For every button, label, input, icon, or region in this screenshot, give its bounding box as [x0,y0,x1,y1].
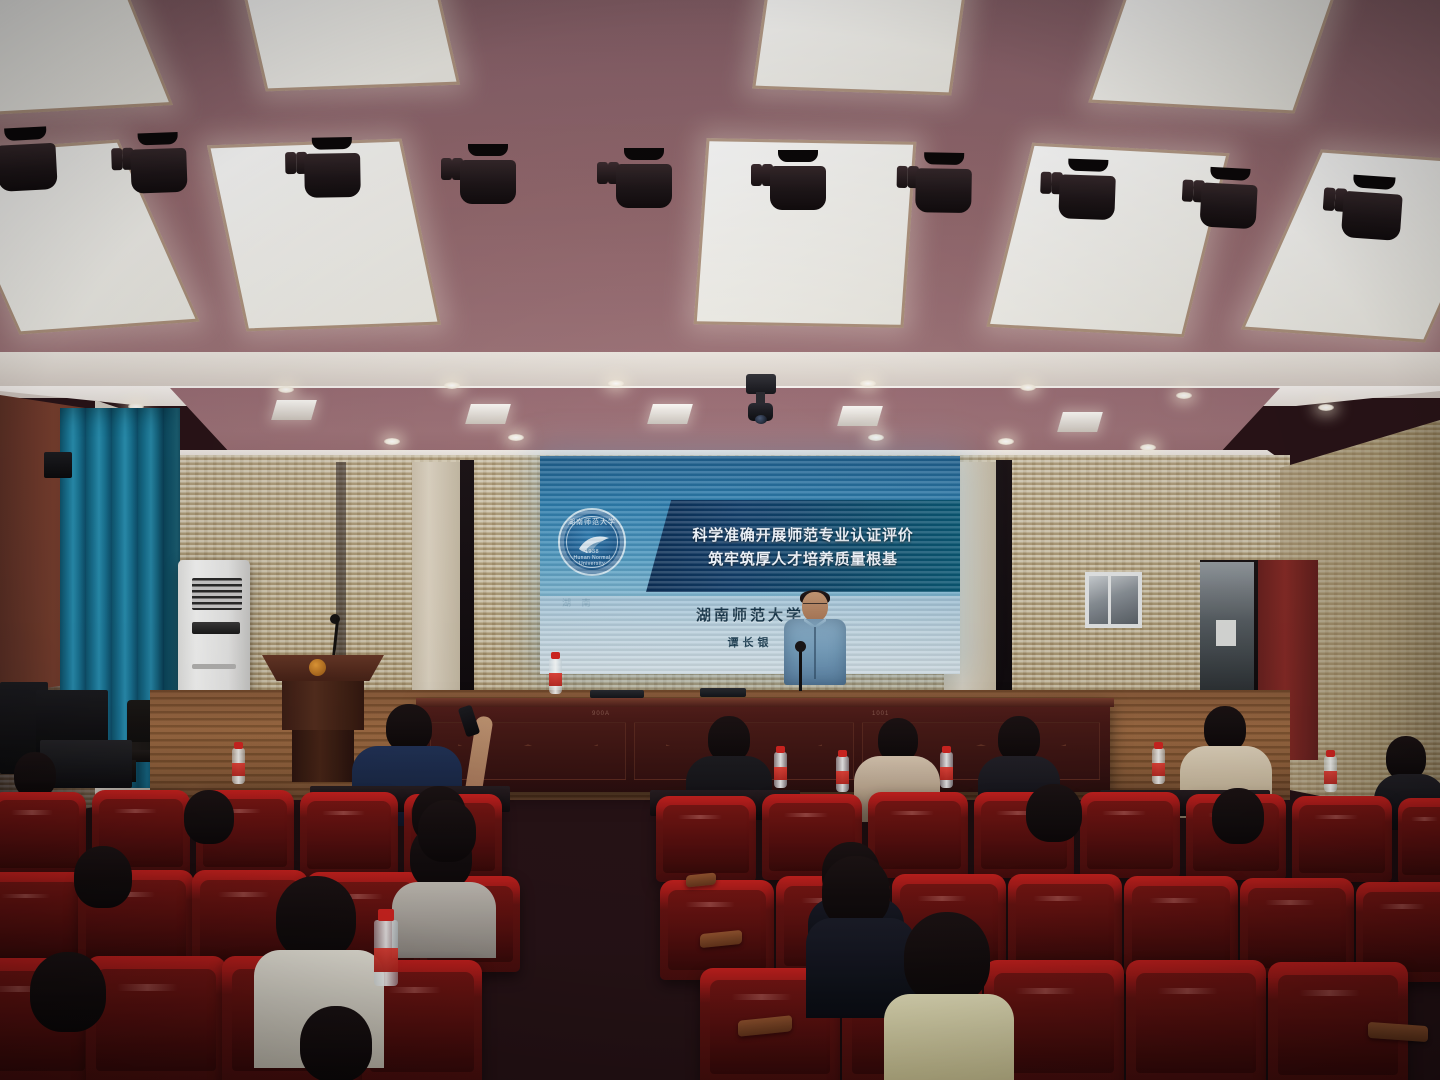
head-table-top [416,698,1114,707]
recessed-downlight [608,380,624,387]
water-bottle[interactable] [549,658,562,694]
bottle-cap [1326,750,1335,757]
auditorium-seat[interactable] [656,796,756,882]
attendee-head [1212,788,1264,844]
slide-speaker-name: 谭长银 [540,634,960,650]
slide-title-line-2: 筑牢筑厚人才培养质量根基 [708,548,898,569]
ac-display-panel[interactable] [192,622,240,634]
glasses-icon [803,603,827,609]
bottle-label [1324,771,1337,784]
slide-title-band: 科学准确开展师范专业认证评价 筑牢筑厚人才培养质量根基 [646,500,960,592]
ac-vent-slot [192,664,236,669]
recessed-downlight [1176,392,1192,399]
window-mullion [1108,576,1111,624]
presenter [780,592,850,692]
recessed-downlight [384,438,400,445]
pillar-recess-left [460,460,474,694]
recessed-downlight [508,434,524,441]
auditorium-seat[interactable] [1398,798,1440,884]
bottle-label [232,763,245,776]
water-bottle[interactable] [836,756,849,792]
logo-chinese-text: 湖南师范大学 [560,517,624,527]
recessed-downlight [1318,404,1334,411]
bottle-label [774,767,787,780]
camera-lens-icon [755,415,767,424]
recessed-downlight [444,382,460,389]
attendee [404,800,500,920]
door-notice-paper [1216,620,1236,646]
ceiling-light-panel [752,0,968,95]
bottle-label [549,673,562,686]
stage-pillar-left [412,462,460,694]
attendee [284,1006,404,1080]
water-bottle[interactable] [374,920,398,986]
recessed-downlight [860,380,876,387]
ceiling-camera-mount [746,374,776,394]
laptop[interactable] [700,688,746,697]
attendee-shoulders [884,994,1014,1080]
attendee-head [386,704,432,752]
soffit-square-light [465,404,511,424]
bottle-label [374,948,398,972]
podium-emblem-icon [309,659,326,676]
soffit-square-light [271,400,317,420]
wall-window [1085,572,1142,628]
laptop[interactable] [590,690,644,698]
attendee-head [184,790,234,844]
wall-control-panel[interactable] [44,452,72,478]
auditorium-seat[interactable] [300,792,398,878]
presenter-microphone-head [795,641,806,652]
bottle-cap [942,746,951,753]
recessed-downlight [868,434,884,441]
auditorium-seat[interactable] [1292,796,1392,882]
bottle-label [940,767,953,780]
water-bottle[interactable] [1152,748,1165,784]
water-bottle[interactable] [940,752,953,788]
bottle-cap [234,742,243,749]
attendee [1010,784,1098,862]
slide-institution: 湖南师范大学 [540,604,960,625]
attendee [60,846,156,942]
recessed-downlight [1140,444,1156,451]
water-bottle[interactable] [232,748,245,784]
university-logo: 湖南师范大学 1938 Hunan Normal University [558,508,626,576]
recessed-downlight [998,438,1014,445]
bottle-cap [776,746,785,753]
recessed-downlight [1020,384,1036,391]
pillar-recess-right [996,460,1012,694]
presentation-screen[interactable]: 湖南师范大学 1938 Hunan Normal University 科学准确… [540,456,960,674]
auditorium-seat[interactable] [660,880,774,980]
bottle-cap [1154,742,1163,749]
water-bottle[interactable] [1324,756,1337,792]
soffit-square-light [1057,412,1103,432]
attendee [168,790,250,860]
attendee [884,912,1014,1080]
attendee-head [904,912,990,1004]
soffit-square-light [837,406,883,426]
attendee-head [300,1006,372,1080]
bottle-cap [551,652,560,659]
auditorium-seat[interactable] [1008,874,1122,974]
attendee [1196,788,1280,862]
recessed-downlight [278,386,294,393]
ac-grille-icon [192,578,242,610]
attendee [12,952,132,1080]
auditorium-seat[interactable] [1268,962,1408,1080]
soffit-square-light [647,404,693,424]
presenter-shirt-placket [814,627,816,679]
inner-ceiling [170,388,1280,460]
attendee-head [30,952,106,1032]
slide-title-line-1: 科学准确开展师范专业认证评价 [692,524,913,545]
bottle-label [1152,763,1165,776]
attendee-head [74,846,132,908]
bottle-cap [378,909,394,921]
table-label-right: 1001 [872,711,889,717]
bottle-label [836,771,849,784]
table-label-left: 900A [592,711,610,717]
water-bottle[interactable] [774,752,787,788]
attendee-head [276,876,356,960]
lecture-hall-photo: 湖南师范大学 1938 Hunan Normal University 科学准确… [0,0,1440,1080]
bottle-cap [838,750,847,757]
auditorium-seat[interactable] [1126,960,1266,1080]
ceiling-light-panel [240,0,460,91]
logo-english-text: Hunan Normal University [560,555,624,567]
attendee-head [1026,784,1082,842]
attendee-head [418,800,476,862]
